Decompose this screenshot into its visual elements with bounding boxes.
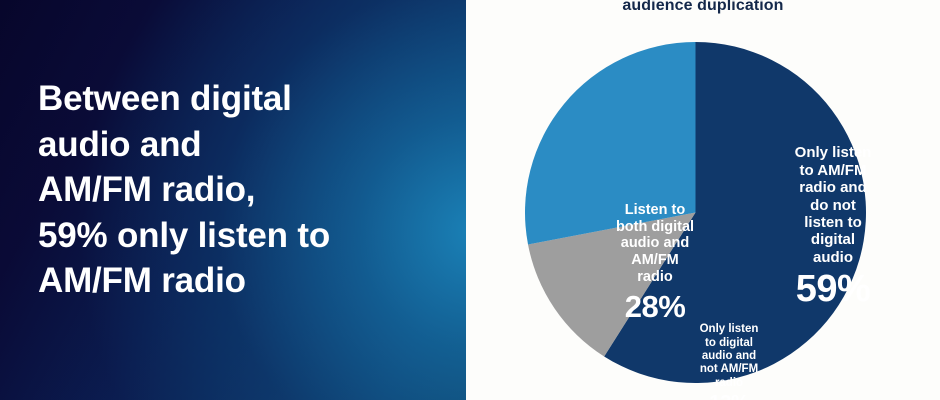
chart-title: audience duplication	[466, 0, 940, 15]
slide-root: Between digital audio and AM/FM radio, 5…	[0, 0, 940, 400]
pie-value-digital-only: 13%	[687, 393, 771, 400]
pie-slice-both[interactable]	[525, 42, 696, 244]
left-headline-panel: Between digital audio and AM/FM radio, 5…	[0, 0, 466, 400]
pie-chart: Only listen to AM/FM radio and do not li…	[525, 42, 866, 383]
pie-chart-svg	[525, 42, 866, 383]
headline-text: Between digital audio and AM/FM radio, 5…	[38, 76, 428, 304]
right-chart-panel: audience duplication Only listen to AM/F…	[466, 0, 940, 400]
pie-slice-group	[525, 42, 866, 383]
